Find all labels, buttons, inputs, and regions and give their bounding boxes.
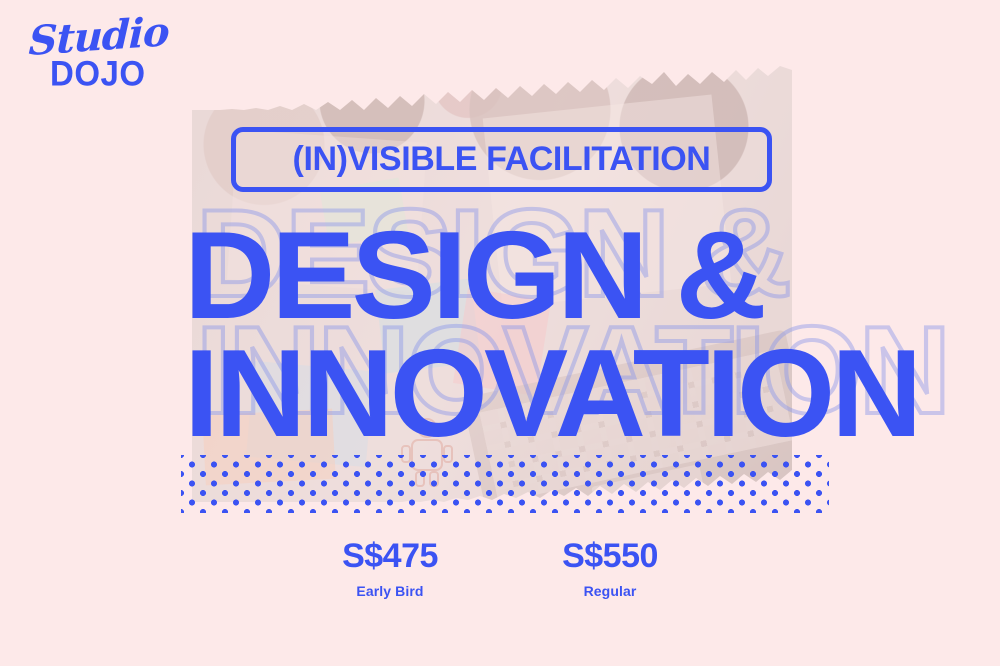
pricing-amount: S$475 bbox=[310, 536, 470, 577]
studio-dojo-logo[interactable]: Studio DOJO bbox=[22, 22, 182, 94]
subtitle-badge-label: (IN)VISIBLE FACILITATION bbox=[293, 140, 711, 179]
poster-canvas: Studio DOJO bbox=[0, 0, 1000, 666]
pricing-option-early-bird: S$475 Early Bird bbox=[310, 536, 470, 599]
page-title: DESIGN & INNOVATION bbox=[184, 218, 864, 454]
pricing-label: Regular bbox=[530, 583, 690, 599]
pricing-row: S$475 Early Bird S$550 Regular bbox=[0, 536, 1000, 599]
logo-block-word: DOJO bbox=[50, 56, 146, 91]
photo-torn-top-edge bbox=[192, 66, 792, 110]
headline-line-1: DESIGN & bbox=[184, 218, 878, 336]
pricing-amount: S$550 bbox=[530, 536, 690, 577]
pricing-option-regular: S$550 Regular bbox=[530, 536, 690, 599]
subtitle-badge: (IN)VISIBLE FACILITATION bbox=[231, 127, 772, 192]
pricing-label: Early Bird bbox=[310, 583, 470, 599]
photo-torn-bottom-edge bbox=[192, 470, 792, 502]
headline-line-2: INNOVATION bbox=[184, 336, 878, 454]
